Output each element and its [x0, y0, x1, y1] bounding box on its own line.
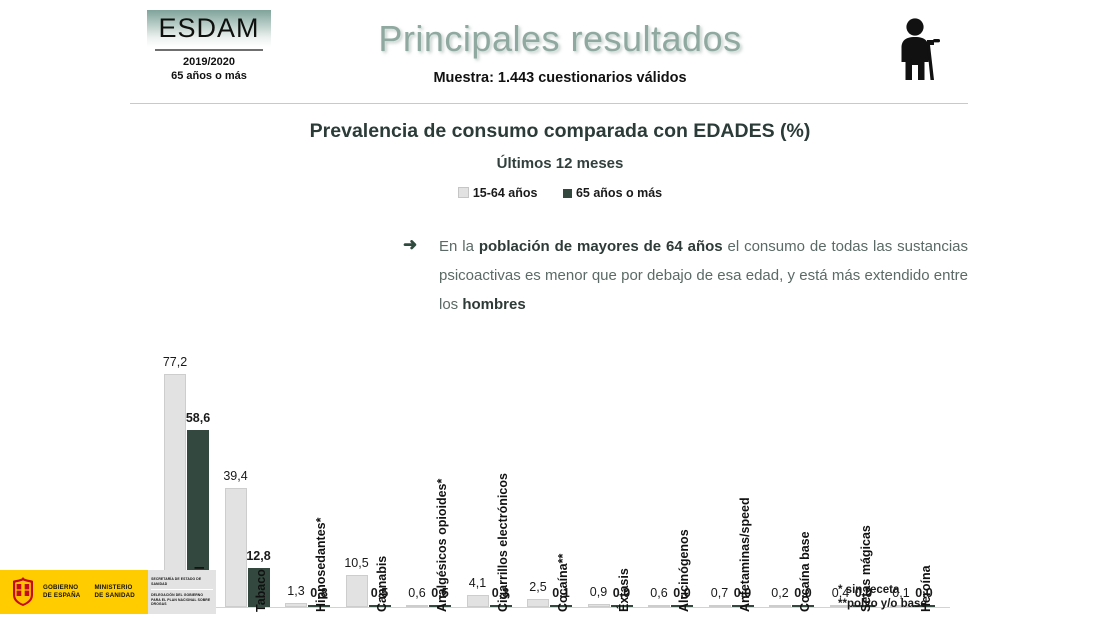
secretaria-label: SECRETARÍA DE ESTADO DE SANIDAD: [151, 577, 213, 590]
esdam-divider: [155, 49, 263, 51]
category-label-8: Alucinógenos: [677, 529, 691, 612]
bar-8-15-64: [648, 605, 670, 608]
value-label-3-15-64: 10,5: [338, 556, 376, 570]
value-label-0-15-64: 77,2: [156, 355, 194, 369]
bar-7-15-64: [588, 604, 610, 607]
gov-ministry-names: GOBIERNO DE ESPAÑA MINISTERIO DE SANIDAD: [43, 584, 135, 599]
category-label-10: Cocaína base: [798, 531, 812, 612]
ministerio-line-1: MINISTERIO: [94, 584, 135, 592]
gobierno-line-1: GOBIERNO: [43, 584, 80, 592]
sample-size-label: Muestra: 1.443 cuestionarios válidos: [350, 70, 770, 86]
gov-yellow-band: GOBIERNO DE ESPAÑA MINISTERIO DE SANIDAD: [0, 570, 148, 614]
esdam-logo: ESDAM 2019/2020 65 años o más: [147, 10, 271, 83]
elderly-person-with-cane-icon: [893, 18, 949, 87]
gobierno-line-2: DE ESPAÑA: [43, 592, 80, 600]
chart-baseline: [150, 607, 950, 608]
footnote-2: **polvo y/o base: [838, 597, 927, 611]
bar-chart: 77,258,639,412,81,30,810,50,50,60,54,10,…: [150, 175, 960, 433]
esdam-population: 65 años o más: [147, 69, 271, 83]
category-label-7: Éxtasis: [617, 568, 631, 612]
ministerio-line-2: DE SANIDAD: [94, 592, 135, 600]
category-label-6: Cocaína**: [556, 554, 570, 612]
delegacion-label: DELEGACIÓN DEL GOBIERNO PARA EL PLAN NAC…: [151, 593, 213, 606]
bar-6-15-64: [527, 599, 549, 607]
category-label-2: Hipnosedantes*: [314, 518, 328, 612]
bar-10-15-64: [769, 605, 791, 608]
bar-4-15-64: [406, 605, 428, 608]
category-label-3: Cannabis: [375, 556, 389, 612]
category-label-5: Cigarrillos electrónicos: [496, 473, 510, 612]
value-label-1-65-plus: 12,8: [240, 549, 278, 563]
coat-of-arms-icon: [10, 577, 36, 607]
esdam-logo-box: ESDAM: [147, 10, 271, 47]
category-label-4: Analgésicos opioides*: [435, 479, 449, 612]
bar-1-15-64: [225, 488, 247, 607]
government-footer: GOBIERNO DE ESPAÑA MINISTERIO DE SANIDAD…: [0, 570, 216, 614]
esdam-years: 2019/2020: [147, 55, 271, 69]
category-label-1: Tabaco: [254, 569, 268, 612]
footnote-1: * sin receta: [838, 583, 927, 597]
chart-subtitle: Últimos 12 meses: [150, 155, 970, 172]
chart-title: Prevalencia de consumo comparada con EDA…: [150, 120, 970, 143]
value-label-1-15-64: 39,4: [217, 469, 255, 483]
header-divider: [130, 103, 968, 104]
category-label-9: Anfetaminas/speed: [738, 497, 752, 612]
bar-2-15-64: [285, 603, 307, 607]
page-title: Principales resultados: [350, 18, 770, 60]
esdam-wordmark: ESDAM: [147, 13, 271, 43]
chart-footnotes: * sin receta **polvo y/o base: [838, 583, 927, 611]
value-label-0-65-plus: 58,6: [179, 411, 217, 425]
gov-grey-band: SECRETARÍA DE ESTADO DE SANIDAD DELEGACI…: [148, 570, 216, 614]
bar-9-15-64: [709, 605, 731, 608]
